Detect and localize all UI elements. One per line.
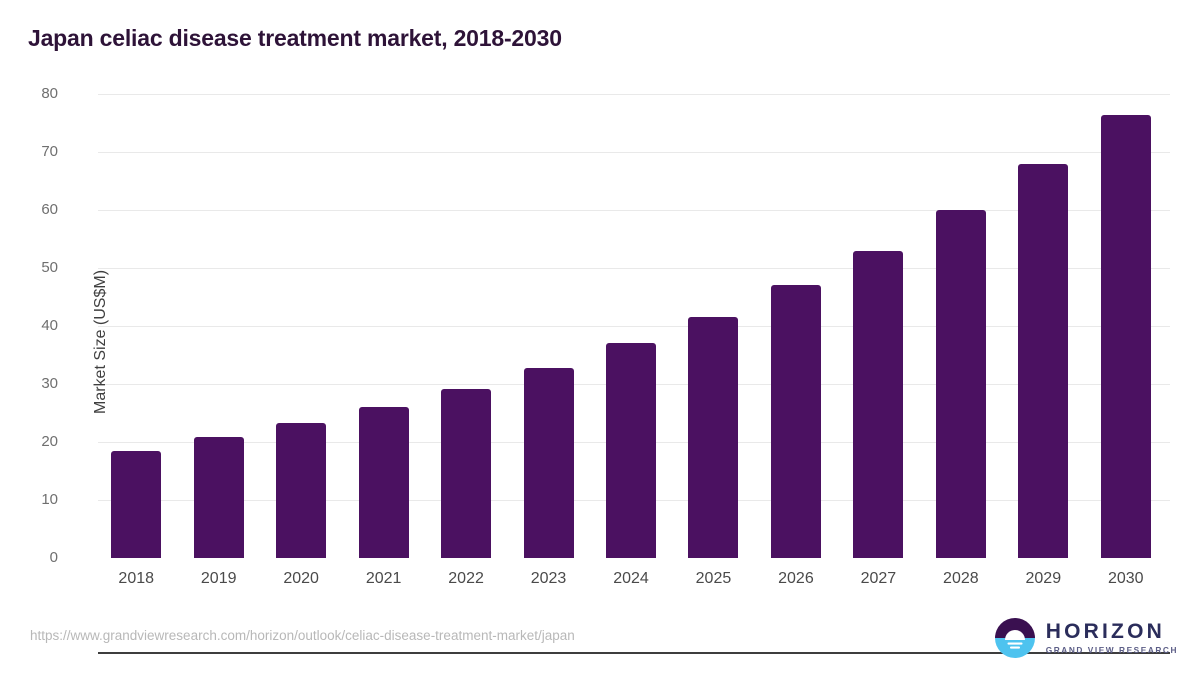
horizon-logo-text: HORIZON GRAND VIEW RESEARCH: [1046, 621, 1178, 654]
bar[interactable]: [1018, 164, 1068, 558]
horizon-logo-name: HORIZON: [1046, 621, 1178, 642]
y-axis-tick-label: 20: [0, 433, 58, 450]
y-axis-tick-label: 70: [0, 143, 58, 160]
bar[interactable]: [853, 251, 903, 558]
horizon-logo-icon: [994, 617, 1036, 659]
x-axis-tick-label: 2028: [936, 570, 986, 588]
x-axis-tick-label: 2027: [853, 570, 903, 588]
bar[interactable]: [276, 423, 326, 558]
x-axis-tick-label: 2024: [606, 570, 656, 588]
bar-group[interactable]: [359, 94, 409, 558]
bar[interactable]: [606, 343, 656, 558]
bar-group[interactable]: [688, 94, 738, 558]
y-axis-tick-label: 10: [0, 491, 58, 508]
bar-group[interactable]: [194, 94, 244, 558]
bar[interactable]: [359, 407, 409, 558]
x-axis-tick-label: 2030: [1101, 570, 1151, 588]
bar-group[interactable]: [606, 94, 656, 558]
x-axis-tick-label: 2026: [771, 570, 821, 588]
chart-title: Japan celiac disease treatment market, 2…: [28, 25, 562, 52]
x-axis-tick-label: 2025: [688, 570, 738, 588]
x-axis-tick-label: 2020: [276, 570, 326, 588]
bar-group[interactable]: [441, 94, 491, 558]
bar-group[interactable]: [853, 94, 903, 558]
bar-group[interactable]: [524, 94, 574, 558]
x-axis-tick-label: 2022: [441, 570, 491, 588]
bar[interactable]: [441, 389, 491, 558]
x-axis-tick-label: 2021: [359, 570, 409, 588]
y-axis-tick-label: 50: [0, 259, 58, 276]
bar-group[interactable]: [111, 94, 161, 558]
source-url[interactable]: https://www.grandviewresearch.com/horizo…: [30, 628, 575, 643]
bars-container: [98, 94, 1170, 558]
bar-group[interactable]: [936, 94, 986, 558]
bar[interactable]: [524, 368, 574, 558]
horizon-logo-subtitle: GRAND VIEW RESEARCH: [1046, 646, 1178, 654]
plot-area: Market Size (US$M) 010203040506070802018…: [98, 94, 1170, 558]
x-axis-tick-label: 2018: [111, 570, 161, 588]
bar[interactable]: [1101, 115, 1151, 558]
chart-page: Japan celiac disease treatment market, 2…: [0, 0, 1200, 675]
bar[interactable]: [688, 317, 738, 558]
y-axis-tick-label: 80: [0, 85, 58, 102]
bar-group[interactable]: [276, 94, 326, 558]
bar-group[interactable]: [1101, 94, 1151, 558]
bar-group[interactable]: [771, 94, 821, 558]
x-axis-tick-label: 2019: [194, 570, 244, 588]
x-axis-tick-label: 2023: [524, 570, 574, 588]
y-axis-tick-label: 40: [0, 317, 58, 334]
y-axis-tick-label: 60: [0, 201, 58, 218]
y-axis-tick-label: 30: [0, 375, 58, 392]
bar[interactable]: [771, 285, 821, 558]
x-axis-tick-label: 2029: [1018, 570, 1068, 588]
horizon-logo: HORIZON GRAND VIEW RESEARCH: [994, 617, 1178, 659]
y-axis-title: Market Size (US$M): [92, 270, 110, 414]
y-axis-tick-label: 0: [0, 549, 58, 566]
bar[interactable]: [111, 451, 161, 558]
bar[interactable]: [936, 210, 986, 558]
bar[interactable]: [194, 437, 244, 558]
bar-group[interactable]: [1018, 94, 1068, 558]
